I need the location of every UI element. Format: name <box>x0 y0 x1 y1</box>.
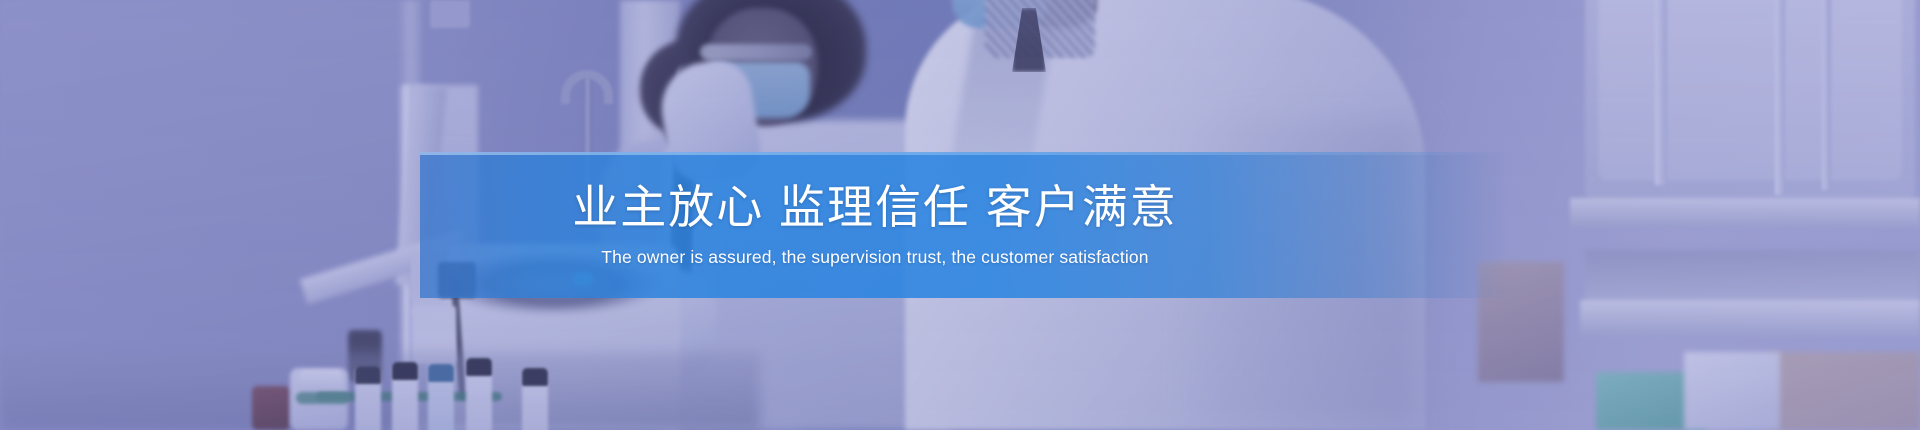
banner-headline: 业主放心 监理信任 客户满意 <box>572 182 1178 234</box>
slogan-text-block: 业主放心 监理信任 客户满意 The owner is assured, the… <box>420 152 1510 298</box>
promo-banner: 业主放心 监理信任 客户满意 The owner is assured, the… <box>0 0 1920 430</box>
banner-subheadline: The owner is assured, the supervision tr… <box>601 247 1148 268</box>
